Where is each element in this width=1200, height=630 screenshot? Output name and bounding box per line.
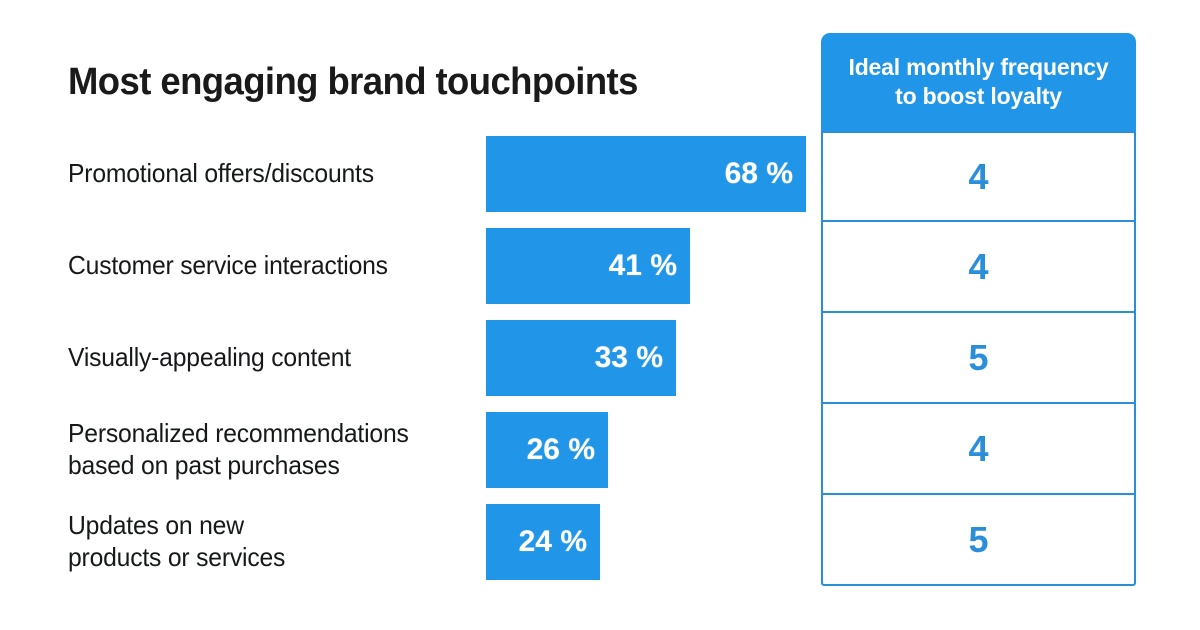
bar-track: 24 % xyxy=(486,504,820,580)
table-row: 4 xyxy=(821,404,1136,495)
bar-category-label: Customer service interactions xyxy=(68,228,452,304)
bar-row: Visually-appealing content 33 % xyxy=(0,320,820,396)
bar-value-label: 24 % xyxy=(519,525,600,559)
frequency-table-header: Ideal monthly frequency to boost loyalty xyxy=(821,33,1136,131)
bar-chart-plot: Promotional offers/discounts 68 % Custom… xyxy=(0,136,820,606)
page-title: Most engaging brand touchpoints xyxy=(68,62,638,104)
bar-category-label-line2: products or services xyxy=(68,542,452,574)
bar-category-label-line1: Promotional offers/discounts xyxy=(68,158,452,190)
table-row: 5 xyxy=(821,495,1136,586)
bar-fill: 26 % xyxy=(486,412,608,488)
bar-value-label: 26 % xyxy=(527,433,608,467)
bar-fill: 41 % xyxy=(486,228,690,304)
bar-category-label-line1: Personalized recommendations xyxy=(68,418,452,450)
bar-track: 68 % xyxy=(486,136,820,212)
frequency-value: 4 xyxy=(968,249,988,285)
bar-category-label: Personalized recommendations based on pa… xyxy=(68,412,452,488)
bar-value-label: 41 % xyxy=(609,249,690,283)
bar-value-label: 68 % xyxy=(725,157,806,191)
frequency-table-header-line2: to boost loyalty xyxy=(895,82,1062,111)
bar-category-label-line1: Visually-appealing content xyxy=(68,342,452,374)
bar-track: 26 % xyxy=(486,412,820,488)
table-row: 4 xyxy=(821,131,1136,222)
table-row: 5 xyxy=(821,313,1136,404)
bar-category-label: Updates on new products or services xyxy=(68,504,452,580)
bar-category-label-line1: Updates on new xyxy=(68,510,452,542)
frequency-table-header-line1: Ideal monthly frequency xyxy=(849,53,1109,82)
bar-fill: 24 % xyxy=(486,504,600,580)
frequency-value: 5 xyxy=(968,522,988,558)
frequency-table-body: 4 4 5 4 5 xyxy=(821,131,1136,584)
bar-category-label: Promotional offers/discounts xyxy=(68,136,452,212)
bar-row: Customer service interactions 41 % xyxy=(0,228,820,304)
table-row: 4 xyxy=(821,222,1136,313)
bar-row: Promotional offers/discounts 68 % xyxy=(0,136,820,212)
bar-chart-panel: Most engaging brand touchpoints Promotio… xyxy=(0,0,820,630)
bar-value-label: 33 % xyxy=(595,341,676,375)
frequency-table: Ideal monthly frequency to boost loyalty… xyxy=(821,33,1136,584)
bar-track: 41 % xyxy=(486,228,820,304)
frequency-value: 4 xyxy=(968,159,988,195)
frequency-value: 4 xyxy=(968,431,988,467)
bar-category-label-line2: based on past purchases xyxy=(68,450,452,482)
frequency-value: 5 xyxy=(968,340,988,376)
bar-category-label: Visually-appealing content xyxy=(68,320,452,396)
bar-category-label-line1: Customer service interactions xyxy=(68,250,452,282)
bar-row: Updates on new products or services 24 % xyxy=(0,504,820,580)
bar-fill: 68 % xyxy=(486,136,806,212)
bar-fill: 33 % xyxy=(486,320,676,396)
bar-row: Personalized recommendations based on pa… xyxy=(0,412,820,488)
bar-track: 33 % xyxy=(486,320,820,396)
